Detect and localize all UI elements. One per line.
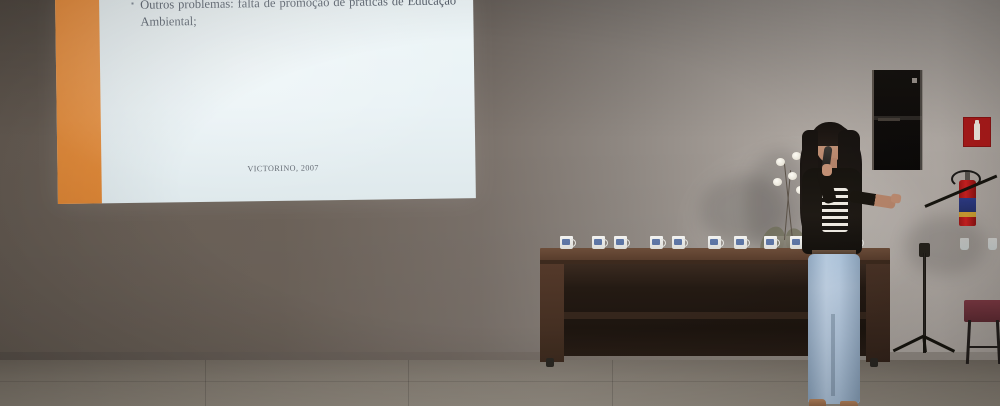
- left-hand: [822, 164, 832, 176]
- presenter: [778, 118, 908, 406]
- fire-extinguisher-sign: [963, 117, 991, 147]
- table-left-leg: [540, 264, 564, 362]
- floor-grout: [612, 360, 613, 406]
- slide-citation: VICTORINO, 2007: [247, 163, 318, 173]
- table-caster: [546, 358, 554, 367]
- mug: [764, 236, 777, 249]
- jeans-leg-gap: [831, 314, 835, 396]
- chair-leg: [966, 320, 971, 364]
- window-latch: [912, 78, 917, 83]
- slide-bullet-text: Outros problemas: falta de promoção de p…: [140, 0, 456, 28]
- chair-leg: [996, 320, 1000, 364]
- bullet-marker-icon: ▪: [131, 0, 134, 9]
- mug: [650, 236, 663, 249]
- mug: [614, 236, 627, 249]
- left-shoe: [809, 399, 826, 406]
- chair-rail: [967, 346, 1000, 348]
- mic-tripod-leg: [923, 335, 955, 352]
- slide-bullet-item: ▪ Outros problemas: falta de promoção de…: [140, 0, 456, 30]
- red-chair: [964, 300, 1000, 366]
- mug: [708, 236, 721, 249]
- slide-accent-bar: [55, 0, 102, 204]
- projected-slide: ▪ Outros problemas: falta de promoção de…: [55, 0, 476, 204]
- fire-extinguisher-icon: [974, 123, 980, 140]
- right-hand: [890, 193, 901, 203]
- mug: [560, 236, 573, 249]
- floor-grout: [408, 360, 409, 406]
- floor-grout: [205, 360, 206, 406]
- slide-background: [55, 0, 476, 204]
- presentation-photo-scene: ▪ Outros problemas: falta de promoção de…: [0, 0, 1000, 406]
- mug: [592, 236, 605, 249]
- mug: [672, 236, 685, 249]
- window-frame: [920, 70, 923, 170]
- mug: [734, 236, 747, 249]
- chair-seat: [964, 300, 1000, 322]
- right-shoe: [840, 401, 858, 406]
